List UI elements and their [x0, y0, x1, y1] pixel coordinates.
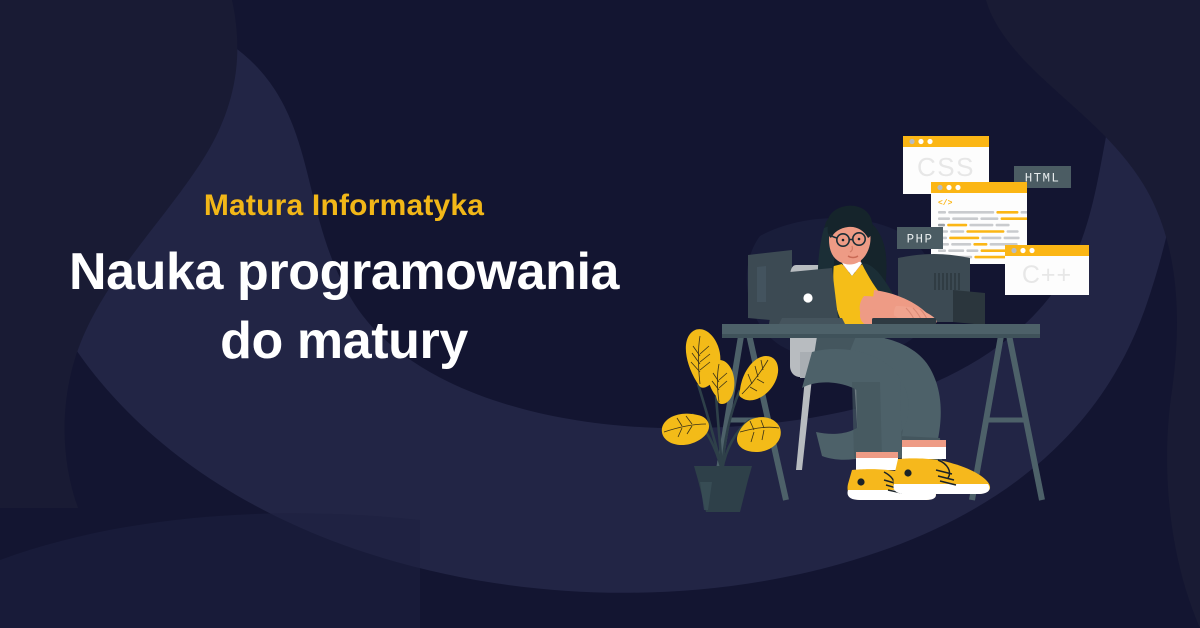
code-line-segment — [938, 249, 946, 252]
code-line-segment — [966, 230, 1004, 233]
code-line-segment — [938, 224, 945, 227]
window-dot — [1020, 248, 1025, 253]
laptop-screen — [786, 268, 838, 318]
sock-white — [856, 458, 898, 470]
eyebrow-label: Matura Informatyka — [8, 188, 680, 224]
chair-leg — [796, 378, 812, 470]
monitor-left-screen — [748, 250, 792, 322]
code-line-segment — [996, 211, 1018, 214]
plant-leaf — [739, 356, 778, 400]
window-dot — [927, 139, 932, 144]
code-window-titlebar — [931, 182, 1027, 193]
shoe-eyelet — [904, 469, 911, 476]
code-line-segment — [1004, 237, 1020, 240]
code-line-segment — [966, 249, 978, 252]
code-tag-icon: </> — [938, 199, 953, 208]
headline-line-1: Nauka programowania — [8, 238, 680, 307]
banner-hero: CSS HTML </> PHP C++ — [0, 0, 1200, 628]
plant-leaf — [708, 360, 734, 404]
pot-rim — [694, 466, 752, 480]
css-window-label: CSS — [917, 152, 975, 182]
code-line-segment — [938, 211, 946, 214]
window-dot — [909, 139, 914, 144]
monitor-right-stand — [953, 290, 985, 325]
sock-white — [902, 447, 946, 459]
css-window-titlebar — [903, 136, 989, 147]
floating-tag-php[interactable]: PHP — [897, 227, 943, 249]
desk — [722, 324, 1040, 338]
sock-stripe — [902, 440, 946, 447]
cpp-window-titlebar — [1005, 245, 1089, 256]
shoe-eyelet — [857, 478, 864, 485]
html-tag-label: HTML — [1025, 172, 1061, 186]
laptop-logo — [803, 293, 812, 302]
monitor-left-highlight — [757, 266, 766, 302]
code-line-segment — [948, 211, 994, 214]
php-tag-label: PHP — [907, 233, 934, 247]
code-line-segment — [947, 224, 967, 227]
person-lower-body — [802, 329, 990, 500]
code-line-segment — [973, 243, 987, 246]
code-line-segment — [969, 224, 993, 227]
window-dot — [946, 185, 951, 190]
window-dot — [955, 185, 960, 190]
code-line-segment — [1021, 211, 1041, 214]
headline-line-2: do matury — [8, 307, 680, 376]
window-dot — [1029, 248, 1034, 253]
shoe-sole — [894, 484, 990, 494]
window-dot — [1011, 248, 1016, 253]
code-line-segment — [949, 237, 979, 240]
code-line-segment — [980, 217, 998, 220]
desk-edge — [722, 334, 1040, 338]
code-line-segment — [996, 224, 1010, 227]
code-line-segment — [950, 230, 964, 233]
code-line-segment — [981, 249, 1007, 252]
code-line-segment — [1001, 217, 1033, 220]
monitor-vents — [935, 273, 959, 290]
code-line-segment — [952, 217, 978, 220]
cpp-window-label: C++ — [1022, 261, 1072, 289]
code-line-segment — [981, 237, 1001, 240]
plant-leaf — [662, 414, 709, 445]
code-line-segment — [948, 249, 964, 252]
code-line-segment — [951, 243, 971, 246]
page-title: Nauka programowania do matury — [8, 238, 680, 375]
code-line-segment — [1007, 230, 1019, 233]
shin-shadow — [852, 382, 882, 458]
window-dot — [937, 185, 942, 190]
sock-stripe — [856, 452, 898, 458]
window-dot — [918, 139, 923, 144]
code-line-segment — [938, 217, 950, 220]
floating-window-cpp[interactable]: C++ — [1005, 245, 1089, 295]
code-line-segment — [974, 256, 1008, 259]
hero-text-block: Matura Informatyka Nauka programowania d… — [0, 188, 680, 375]
